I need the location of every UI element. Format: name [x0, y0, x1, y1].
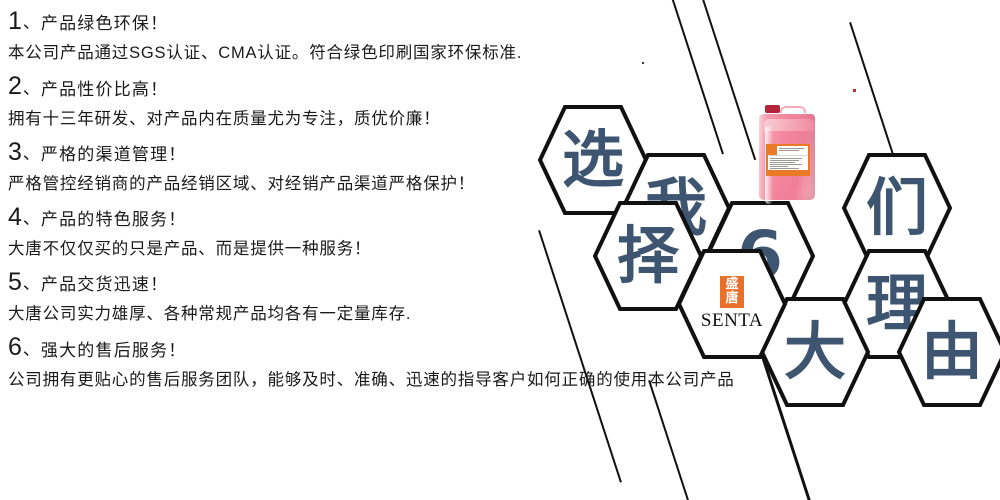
label-header — [768, 146, 808, 156]
reason-separator: 、 — [23, 341, 41, 361]
reason-title: 产品绿色环保！ — [41, 15, 168, 34]
drum-cap — [765, 105, 780, 113]
reason-body: 大唐不仅仅买的只是产品、而是提供一种服务！ — [8, 235, 628, 259]
red-accent-dot — [853, 89, 856, 92]
reason-heading: 3 、 严格的渠道管理！ — [8, 139, 628, 165]
label-logo-chip — [768, 146, 777, 155]
reason-title: 强大的售后服务！ — [41, 342, 187, 361]
reason-heading: 5 、 产品交货迅速！ — [8, 269, 628, 295]
drum-handle — [780, 106, 806, 113]
reason-heading: 2 、 产品性价比高！ — [8, 73, 628, 99]
brand-logo: 盛 唐 SENTA — [676, 248, 788, 360]
reason-body: 公司拥有更贴心的售后服务团队，能够及时、准确、迅速的指导客户如何正确的使用本公司… — [8, 366, 628, 390]
reason-separator: 、 — [23, 210, 41, 230]
reason-number: 3 — [8, 139, 23, 165]
drum-label — [766, 144, 810, 176]
reason-number: 2 — [8, 73, 23, 99]
reason-number: 5 — [8, 269, 23, 295]
reason-item-3: 3 、 严格的渠道管理！ 严格管控经销商的产品经销区域、对经销产品渠道严格保护！ — [8, 139, 628, 194]
diagonal-line-1 — [670, 0, 724, 154]
reason-number: 4 — [8, 204, 23, 230]
reason-item-1: 1 、 产品绿色环保！ 本公司产品通过SGS认证、CMA认证。符合绿色印刷国家环… — [8, 8, 628, 63]
reason-separator: 、 — [23, 14, 41, 34]
reason-separator: 、 — [23, 275, 41, 295]
reason-heading: 1 、 产品绿色环保！ — [8, 8, 628, 34]
reason-heading: 6 、 强大的售后服务！ — [8, 334, 628, 360]
reason-body: 拥有十三年研发、对产品内在质量尤为专注，质优价廉！ — [8, 105, 628, 129]
reason-title: 严格的渠道管理！ — [41, 146, 187, 165]
product-drum-image — [757, 104, 817, 200]
label-title-lines — [777, 146, 808, 155]
reason-item-4: 4 、 产品的特色服务！ 大唐不仅仅买的只是产品、而是提供一种服务！ — [8, 204, 628, 259]
reason-separator: 、 — [23, 80, 41, 100]
hex-cell-brand-logo: 盛 唐 SENTA — [676, 248, 788, 360]
brand-wordmark: SENTA — [701, 310, 763, 332]
reason-item-6: 6 、 强大的售后服务！ 公司拥有更贴心的售后服务团队，能够及时、准确、迅速的指… — [8, 334, 628, 389]
reason-heading: 4 、 产品的特色服务！ — [8, 204, 628, 230]
reason-body: 本公司产品通过SGS认证、CMA认证。符合绿色印刷国家环保标准. — [8, 39, 628, 63]
reason-item-2: 2 、 产品性价比高！ 拥有十三年研发、对产品内在质量尤为专注，质优价廉！ — [8, 73, 628, 128]
reason-body: 严格管控经销商的产品经销区域、对经销产品渠道严格保护！ — [8, 170, 628, 194]
reason-item-5: 5 、 产品交货迅速！ 大唐公司实力雄厚、各种常规产品均各有一定量库存. — [8, 269, 628, 324]
diagonal-line-5 — [648, 380, 692, 500]
reason-body: 大唐公司实力雄厚、各种常规产品均各有一定量库存. — [8, 300, 628, 324]
promo-banner: 1 、 产品绿色环保！ 本公司产品通过SGS认证、CMA认证。符合绿色印刷国家环… — [0, 0, 1000, 500]
reason-list: 1 、 产品绿色环保！ 本公司产品通过SGS认证、CMA认证。符合绿色印刷国家环… — [8, 8, 628, 400]
drum-body — [759, 114, 815, 200]
reason-number: 1 — [8, 8, 23, 34]
label-footer-strip — [768, 170, 808, 174]
hex-label: 由 — [896, 296, 1000, 408]
seal-char-1: 盛 — [725, 278, 738, 292]
senta-seal-icon: 盛 唐 — [720, 276, 744, 308]
red-accent-dot-2 — [642, 62, 644, 64]
reason-title: 产品的特色服务！ — [41, 211, 187, 230]
seal-char-2: 唐 — [725, 292, 738, 306]
reason-title: 产品交货迅速！ — [41, 276, 168, 295]
reason-separator: 、 — [23, 145, 41, 165]
hex-cell-you: 由 — [896, 296, 1000, 408]
reason-title: 产品性价比高！ — [41, 81, 168, 100]
diagonal-line-2 — [701, 0, 756, 160]
reason-number: 6 — [8, 334, 23, 360]
